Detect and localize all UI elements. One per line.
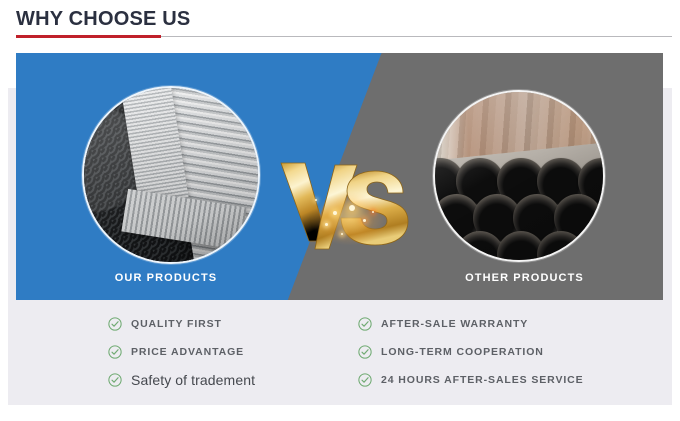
list-item: LONG-TERM COOPERATION — [358, 338, 584, 366]
list-item: Safety of tradement — [108, 366, 255, 394]
list-item: QUALITY FIRST — [108, 310, 255, 338]
feature-label: QUALITY FIRST — [131, 317, 222, 331]
other-products-label: OTHER PRODUCTS — [386, 272, 663, 284]
other-products-image — [433, 90, 605, 262]
photo-shading-overlay — [433, 90, 605, 262]
title-divider — [16, 35, 672, 38]
list-item: PRICE ADVANTAGE — [108, 338, 255, 366]
spark-particle — [341, 233, 343, 235]
spark-particle — [349, 205, 355, 211]
feature-column-left: QUALITY FIRST PRICE ADVANTAGE Safety of … — [108, 310, 255, 394]
feature-label: 24 HOURS AFTER-SALES SERVICE — [381, 373, 584, 387]
our-products-image — [82, 86, 260, 264]
spark-particle — [333, 211, 337, 215]
divider-accent-line — [16, 35, 161, 38]
feature-list: QUALITY FIRST PRICE ADVANTAGE Safety of … — [16, 310, 672, 398]
spark-particle — [325, 223, 328, 226]
why-choose-us-section: WHY CHOOSE US — [0, 0, 680, 421]
steel-pipes-photo — [82, 86, 260, 264]
feature-label: Safety of tradement — [131, 373, 255, 387]
versus-badge — [271, 141, 421, 266]
spark-particle — [372, 211, 374, 213]
page-title: WHY CHOOSE US — [16, 8, 190, 30]
feature-label: AFTER-SALE WARRANTY — [381, 317, 528, 331]
rusty-pipes-photo — [433, 90, 605, 262]
list-item: AFTER-SALE WARRANTY — [358, 310, 584, 338]
spark-particle — [363, 219, 366, 222]
check-circle-icon — [108, 345, 122, 359]
check-circle-icon — [358, 345, 372, 359]
check-circle-icon — [358, 317, 372, 331]
check-circle-icon — [108, 373, 122, 387]
comparison-banner: OUR PRODUCTS OTHER PRODUCTS — [16, 53, 663, 300]
list-item: 24 HOURS AFTER-SALES SERVICE — [358, 366, 584, 394]
check-circle-icon — [108, 317, 122, 331]
feature-label: PRICE ADVANTAGE — [131, 345, 244, 359]
spark-particle — [315, 199, 317, 201]
our-products-label: OUR PRODUCTS — [16, 272, 316, 284]
photo-shading-overlay — [82, 86, 260, 264]
versus-letters-icon — [271, 141, 421, 266]
check-circle-icon — [358, 373, 372, 387]
feature-column-right: AFTER-SALE WARRANTY LONG-TERM COOPERATIO… — [358, 310, 584, 394]
feature-label: LONG-TERM COOPERATION — [381, 345, 544, 359]
